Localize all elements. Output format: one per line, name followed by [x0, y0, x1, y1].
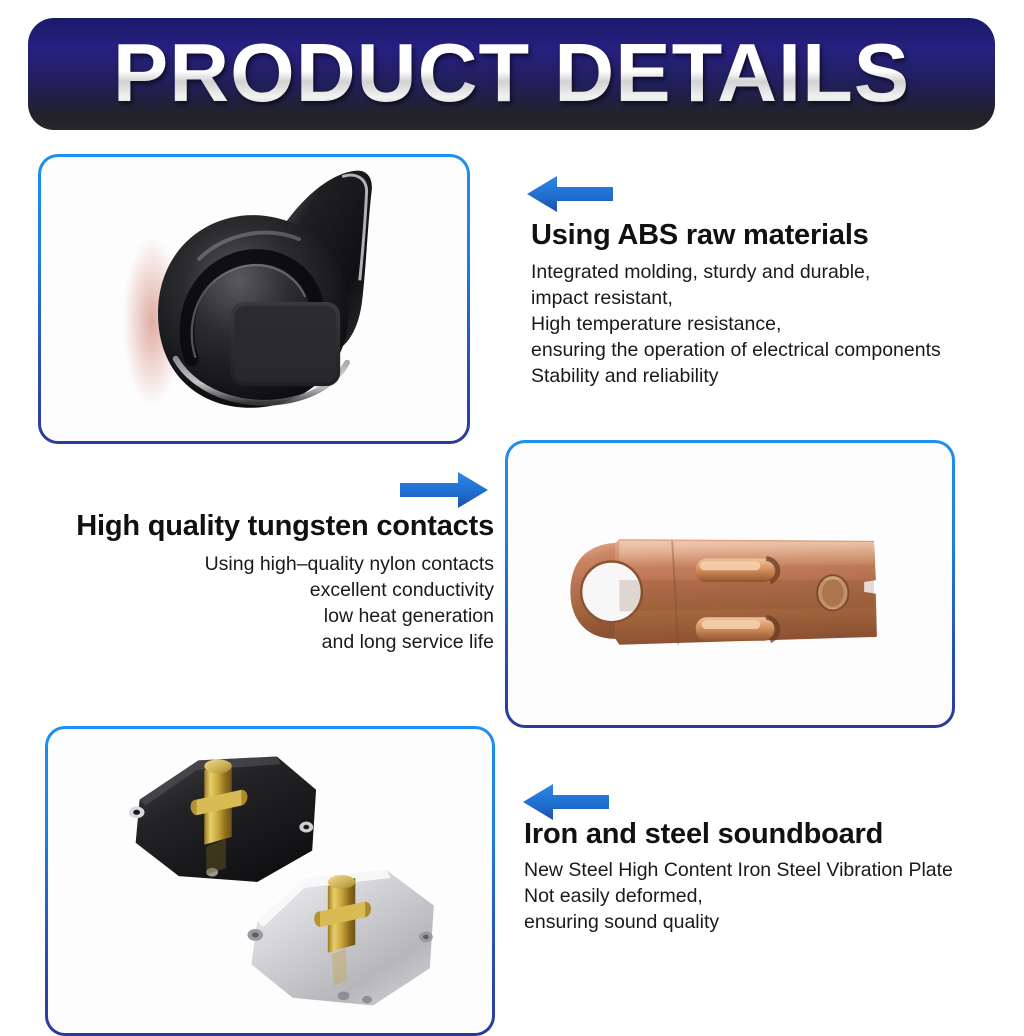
tungsten-heading: High quality tungsten contacts	[14, 510, 494, 543]
black-horn-photo	[41, 157, 467, 441]
arrow-right-icon	[400, 470, 488, 510]
tungsten-body: Using high–quality nylon contacts excell…	[14, 552, 494, 656]
copper-contact-illustration	[508, 443, 952, 725]
arrow-left-icon	[527, 174, 613, 214]
horn-illustration	[41, 157, 467, 441]
abs-text-block: Using ABS raw materials Integrated moldi…	[531, 219, 1011, 390]
page-title: PRODUCT DETAILS	[113, 31, 910, 118]
black-plate	[129, 756, 316, 882]
arrow-left-icon	[523, 782, 609, 822]
abs-heading: Using ABS raw materials	[531, 219, 1011, 252]
soundboard-body: New Steel High Content Iron Steel Vibrat…	[524, 858, 1014, 936]
black-horn-photo-frame	[38, 154, 470, 444]
tungsten-text-block: High quality tungsten contacts Using hig…	[14, 510, 494, 656]
copper-contact-photo	[508, 443, 952, 725]
soundboard-heading: Iron and steel soundboard	[524, 818, 1014, 851]
copper-contact-photo-frame	[505, 440, 955, 728]
soundboard-plates-photo	[48, 729, 492, 1033]
soundboard-photo-frame	[45, 726, 495, 1036]
soundboard-text-block: Iron and steel soundboard New Steel High…	[524, 818, 1014, 936]
soundboard-illustration	[48, 729, 492, 1033]
silver-plate	[247, 870, 433, 1005]
product-details-banner: PRODUCT DETAILS	[28, 18, 995, 130]
abs-body: Integrated molding, sturdy and durable, …	[531, 260, 1011, 390]
